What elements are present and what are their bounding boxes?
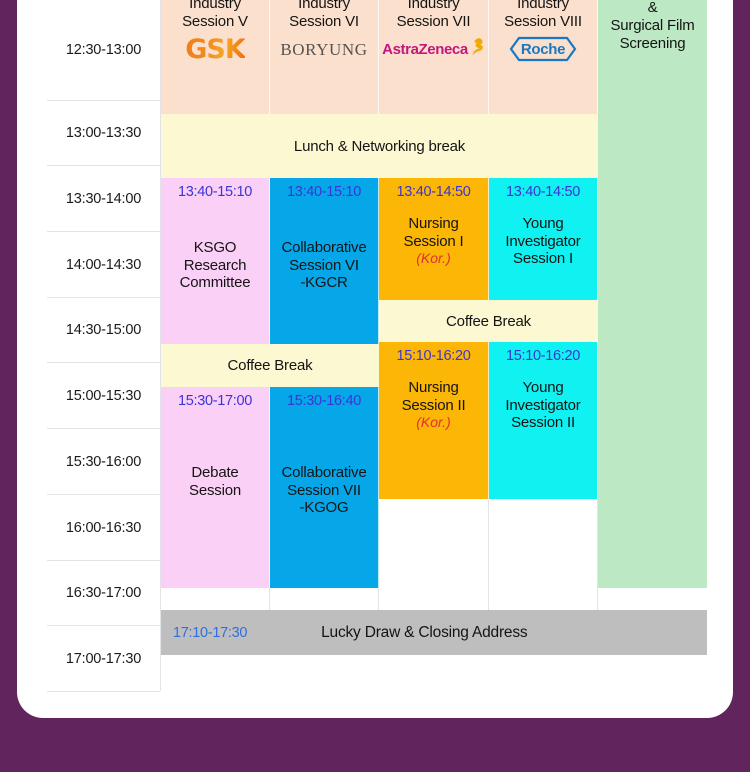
time-slot-label: 17:00-17:30 <box>66 651 141 667</box>
industry-session-v[interactable]: 12:30-13:10 Industry Session V GSK <box>161 0 270 114</box>
empty-cell-col1 <box>161 588 270 610</box>
nursing-session-i-block[interactable]: 13:40-14:50 Nursing Session I (Kor.) <box>379 178 489 300</box>
session-title: Collaborative Session VII -KGOG <box>282 464 367 517</box>
gsk-logo: GSK <box>185 36 245 62</box>
time-slot-cell: 13:30-14:00 <box>47 165 160 231</box>
session-time: 15:10-16:20 <box>396 349 470 365</box>
session-title: Nursing Session II <box>402 379 466 414</box>
boryung-logo: BORYUNG <box>280 36 367 62</box>
time-slot-cell: 12:30-13:00 <box>47 0 160 100</box>
empty-cell-col2 <box>270 588 379 610</box>
eposter-exhibition-block[interactable]: E-Poster Exhibition & Surgical Film Scre… <box>598 0 707 588</box>
closing-time: 17:10-17:30 <box>173 625 247 641</box>
time-slot-label: 12:30-13:00 <box>66 42 141 58</box>
empty-cell-col4b <box>489 588 598 610</box>
time-slot-cell: 15:30-16:00 <box>47 428 160 494</box>
session-title: Young Investigator Session I <box>505 215 580 268</box>
session-title: Industry Session V <box>182 0 248 30</box>
debate-session-block[interactable]: 15:30-17:00 Debate Session <box>161 387 270 588</box>
time-slot-cell: 14:00-14:30 <box>47 231 160 297</box>
time-slot-cell: 16:30-17:00 <box>47 560 160 625</box>
coffee-break-label: Coffee Break <box>228 357 313 374</box>
nursing-session-ii-block[interactable]: 15:10-16:20 Nursing Session II (Kor.) <box>379 342 489 499</box>
young-investigator-session-ii-block[interactable]: 15:10-16:20 Young Investigator Session I… <box>489 342 598 499</box>
session-language-note: (Kor.) <box>416 250 450 266</box>
time-slot-cell: 14:30-15:00 <box>47 297 160 362</box>
schedule-card: 12:30-13:00 13:00-13:30 13:30-14:00 14:0… <box>17 0 733 718</box>
industry-session-viii[interactable]: 12:30-13:10 Industry Session VIII Roche <box>489 0 598 114</box>
schedule-grid: 12:30-13:00 13:00-13:30 13:30-14:00 14:0… <box>17 0 733 718</box>
eposter-line: & <box>648 0 658 17</box>
session-title: Debate Session <box>189 464 241 499</box>
collaborative-session-vi-kgcr-block[interactable]: 13:40-15:10 Collaborative Session VI -KG… <box>270 178 379 344</box>
session-time: 15:30-16:40 <box>287 394 361 410</box>
session-title: Industry Session VI <box>289 0 359 30</box>
roche-logo: Roche <box>509 36 577 62</box>
session-time: 15:30-17:00 <box>178 394 252 410</box>
time-slot-label: 16:00-16:30 <box>66 520 141 536</box>
time-slot-label: 13:00-13:30 <box>66 125 141 141</box>
session-time: 13:40-15:10 <box>287 185 361 201</box>
astrazeneca-swirl-icon <box>469 37 485 57</box>
session-title: Industry Session VIII <box>504 0 582 30</box>
session-time: 13:40-15:10 <box>178 185 252 201</box>
time-slot-label: 15:00-15:30 <box>66 388 141 404</box>
time-slot-cell: 17:00-17:30 <box>47 625 160 691</box>
time-slot-label: 16:30-17:00 <box>66 585 141 601</box>
coffee-break-right-band[interactable]: Coffee Break <box>379 300 598 342</box>
session-time: 13:40-14:50 <box>506 185 580 201</box>
eposter-line: Surgical Film <box>610 17 694 35</box>
session-time: 13:40-14:50 <box>396 185 470 201</box>
session-title: Nursing Session I <box>404 215 464 250</box>
closing-label: Lucky Draw & Closing Address <box>321 624 527 642</box>
young-investigator-session-i-block[interactable]: 13:40-14:50 Young Investigator Session I <box>489 178 598 300</box>
time-column-bottom-edge <box>47 691 160 692</box>
time-slot-cell: 13:00-13:30 <box>47 100 160 165</box>
ksgo-research-committee-block[interactable]: 13:40-15:10 KSGO Research Committee <box>161 178 270 344</box>
time-slot-label: 14:30-15:00 <box>66 322 141 338</box>
astrazeneca-logo: AstraZeneca <box>382 36 485 62</box>
industry-session-vi[interactable]: 12:30-13:10 Industry Session VI BORYUNG <box>270 0 379 114</box>
session-title: Industry Session VII <box>397 0 471 30</box>
collaborative-session-vii-kgog-block[interactable]: 15:30-16:40 Collaborative Session VII -K… <box>270 387 379 588</box>
session-title: Collaborative Session VI -KGCR <box>282 239 367 292</box>
empty-cell-col4 <box>489 499 598 588</box>
empty-cell-col3 <box>379 499 489 588</box>
session-language-note: (Kor.) <box>416 414 450 430</box>
time-slot-label: 15:30-16:00 <box>66 454 141 470</box>
industry-session-vii[interactable]: 12:30-13:10 Industry Session VII AstraZe… <box>379 0 489 114</box>
roche-wordmark: Roche <box>509 36 577 62</box>
eposter-line: Screening <box>620 35 686 53</box>
empty-cell-col3b <box>379 588 489 610</box>
time-slot-label: 13:30-14:00 <box>66 191 141 207</box>
time-slot-cell: 15:00-15:30 <box>47 362 160 428</box>
lunch-break-label: Lunch & Networking break <box>294 138 465 155</box>
session-title: KSGO Research Committee <box>180 239 251 292</box>
coffee-break-left-band[interactable]: Coffee Break <box>161 344 379 387</box>
session-title: Young Investigator Session II <box>505 379 580 432</box>
session-time: 15:10-16:20 <box>506 349 580 365</box>
time-slot-cell: 16:00-16:30 <box>47 494 160 560</box>
lucky-draw-closing-band[interactable]: 17:10-17:30 Lucky Draw & Closing Address <box>161 610 707 655</box>
lunch-break-band[interactable]: Lunch & Networking break <box>161 114 598 178</box>
time-slot-label: 14:00-14:30 <box>66 257 141 273</box>
coffee-break-label: Coffee Break <box>446 313 531 330</box>
